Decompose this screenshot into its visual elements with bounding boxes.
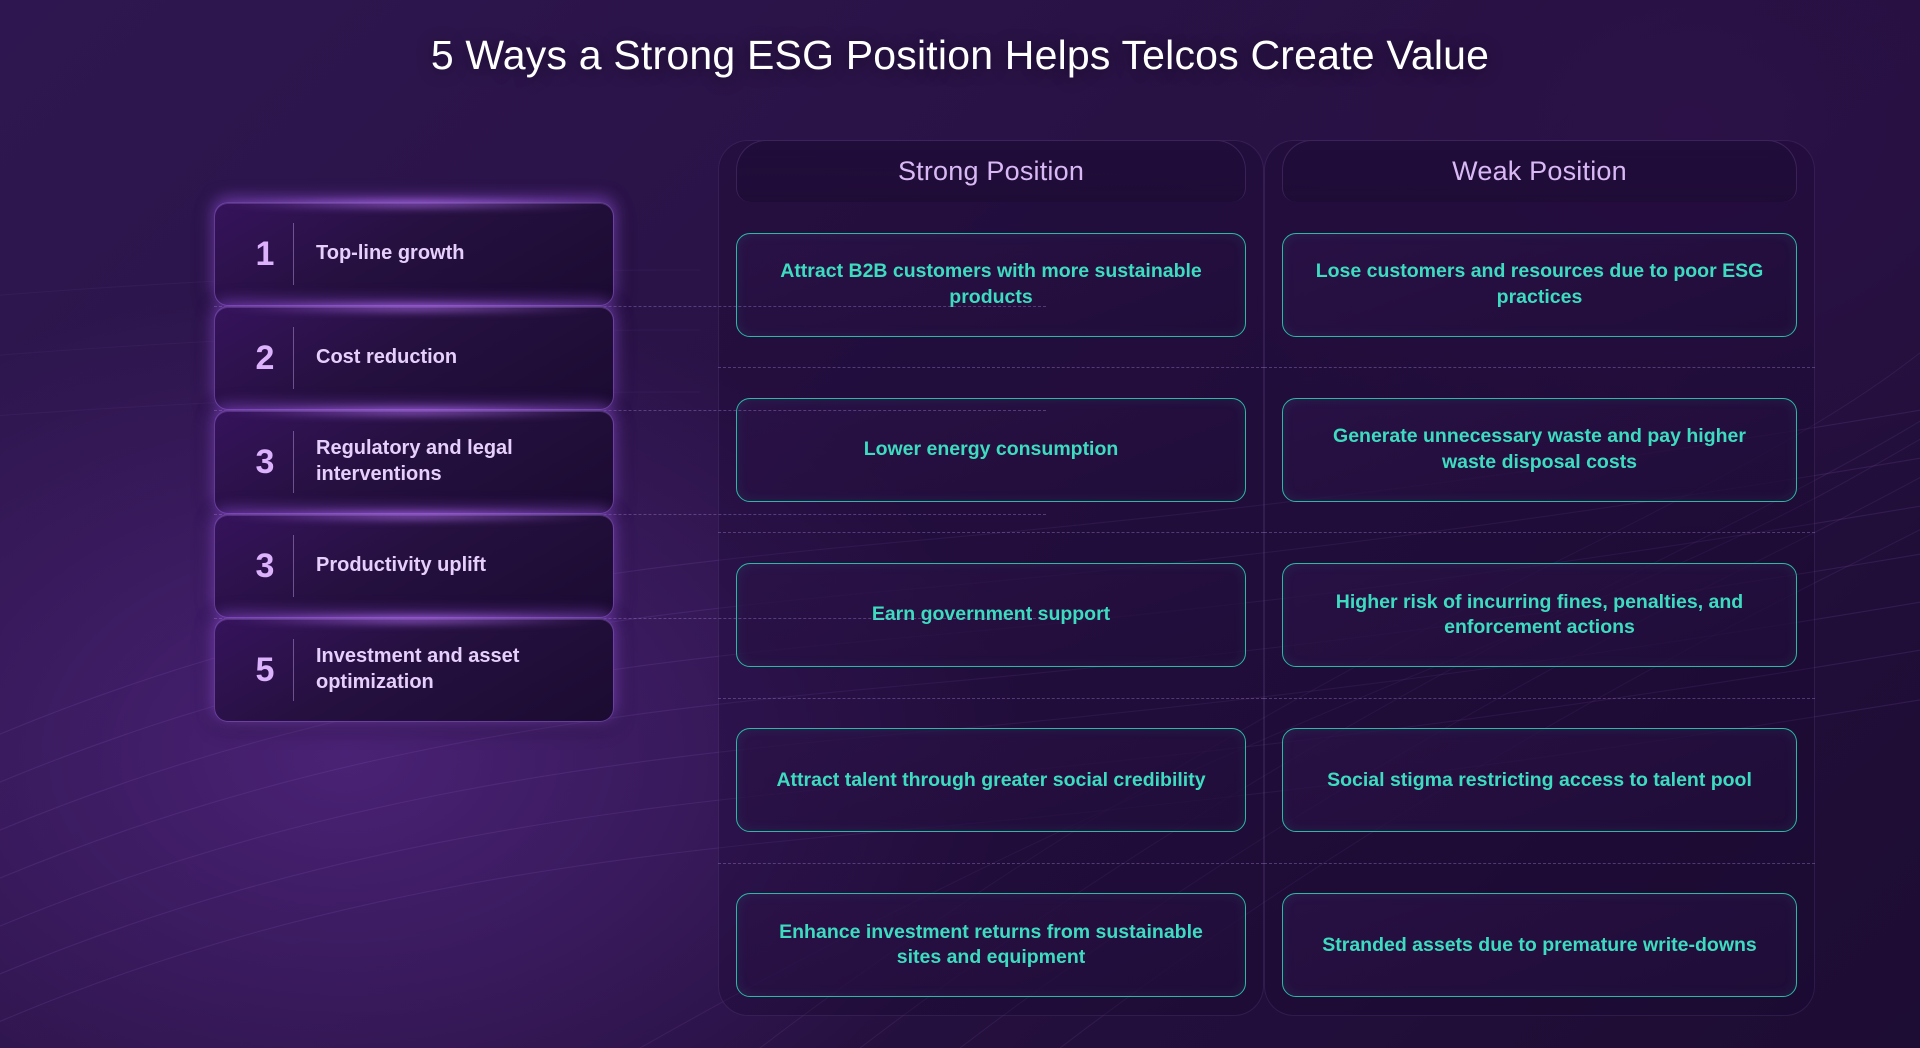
weak-card-text: Higher risk of incurring fines, penaltie… xyxy=(1305,590,1774,641)
strong-card-text: Enhance investment returns from sustaina… xyxy=(759,920,1223,971)
divider xyxy=(293,639,294,701)
row-slot: Earn government support xyxy=(736,532,1246,697)
weak-card-2[interactable]: Generate unnecessary waste and pay highe… xyxy=(1282,398,1797,502)
weak-card-text: Social stigma restricting access to tale… xyxy=(1327,768,1752,793)
strong-card-2[interactable]: Lower energy consumption xyxy=(736,398,1246,502)
weak-card-text: Generate unnecessary waste and pay highe… xyxy=(1305,424,1774,475)
weak-card-3[interactable]: Higher risk of incurring fines, penaltie… xyxy=(1282,563,1797,667)
weak-card-4[interactable]: Social stigma restricting access to tale… xyxy=(1282,728,1797,832)
driver-number: 1 xyxy=(241,235,289,274)
driver-number: 5 xyxy=(241,651,289,690)
strong-card-text: Lower energy consumption xyxy=(864,437,1119,462)
strong-card-text: Earn government support xyxy=(872,602,1110,627)
row-slot: 5 Investment and asset optimization xyxy=(214,618,614,722)
strong-card-1[interactable]: Attract B2B customers with more sustaina… xyxy=(736,233,1246,337)
row-slot: Stranded assets due to premature write-d… xyxy=(1282,863,1797,1028)
driver-label: Investment and asset optimization xyxy=(316,644,587,695)
strong-position-column: Strong Position Attract B2B customers wi… xyxy=(736,110,1246,1028)
row-slot: Attract talent through greater social cr… xyxy=(736,698,1246,863)
weak-position-column: Weak Position Lose customers and resourc… xyxy=(1282,110,1797,1028)
value-driver-rows: 1 Top-line growth 2 Cost reduction 3 Reg… xyxy=(214,140,614,722)
row-slot: 2 Cost reduction xyxy=(214,306,614,410)
value-driver-card-5[interactable]: 5 Investment and asset optimization xyxy=(214,618,614,722)
value-driver-card-1[interactable]: 1 Top-line growth xyxy=(214,202,614,306)
driver-number: 3 xyxy=(241,547,289,586)
strong-card-text: Attract talent through greater social cr… xyxy=(776,768,1205,793)
weak-card-5[interactable]: Stranded assets due to premature write-d… xyxy=(1282,893,1797,997)
driver-number: 3 xyxy=(241,443,289,482)
strong-position-header: Strong Position xyxy=(736,140,1246,202)
strong-card-5[interactable]: Enhance investment returns from sustaina… xyxy=(736,893,1246,997)
value-driver-card-4[interactable]: 3 Productivity uplift xyxy=(214,514,614,618)
weak-card-1[interactable]: Lose customers and resources due to poor… xyxy=(1282,233,1797,337)
row-slot: 1 Top-line growth xyxy=(214,202,614,306)
strong-card-4[interactable]: Attract talent through greater social cr… xyxy=(736,728,1246,832)
row-slot: Generate unnecessary waste and pay highe… xyxy=(1282,367,1797,532)
row-slot: Higher risk of incurring fines, penaltie… xyxy=(1282,532,1797,697)
row-slot: Enhance investment returns from sustaina… xyxy=(736,863,1246,1028)
row-slot: Social stigma restricting access to tale… xyxy=(1282,698,1797,863)
row-slot: 3 Productivity uplift xyxy=(214,514,614,618)
strong-position-rows: Attract B2B customers with more sustaina… xyxy=(736,202,1246,1028)
page-title: 5 Ways a Strong ESG Position Helps Telco… xyxy=(431,32,1489,79)
title-bar: 5 Ways a Strong ESG Position Helps Telco… xyxy=(0,0,1920,110)
row-slot: Lower energy consumption xyxy=(736,367,1246,532)
driver-label: Regulatory and legal interventions xyxy=(316,436,587,487)
row-slot: Lose customers and resources due to poor… xyxy=(1282,202,1797,367)
divider xyxy=(293,431,294,493)
driver-label: Top-line growth xyxy=(316,241,465,267)
strong-card-text: Attract B2B customers with more sustaina… xyxy=(759,259,1223,310)
row-slot: Attract B2B customers with more sustaina… xyxy=(736,202,1246,367)
value-driver-card-3[interactable]: 3 Regulatory and legal interventions xyxy=(214,410,614,514)
weak-position-header: Weak Position xyxy=(1282,140,1797,202)
divider xyxy=(293,535,294,597)
driver-label: Productivity uplift xyxy=(316,553,486,579)
value-driver-card-2[interactable]: 2 Cost reduction xyxy=(214,306,614,410)
comparison-board: 1 Top-line growth 2 Cost reduction 3 Reg… xyxy=(0,110,1920,1028)
row-slot: 3 Regulatory and legal interventions xyxy=(214,410,614,514)
weak-card-text: Stranded assets due to premature write-d… xyxy=(1322,933,1757,958)
divider xyxy=(293,223,294,285)
value-driver-column: 1 Top-line growth 2 Cost reduction 3 Reg… xyxy=(214,110,614,1028)
strong-card-3[interactable]: Earn government support xyxy=(736,563,1246,667)
weak-card-text: Lose customers and resources due to poor… xyxy=(1305,259,1774,310)
driver-number: 2 xyxy=(241,339,289,378)
divider xyxy=(293,327,294,389)
driver-label: Cost reduction xyxy=(316,345,457,371)
weak-position-rows: Lose customers and resources due to poor… xyxy=(1282,202,1797,1028)
